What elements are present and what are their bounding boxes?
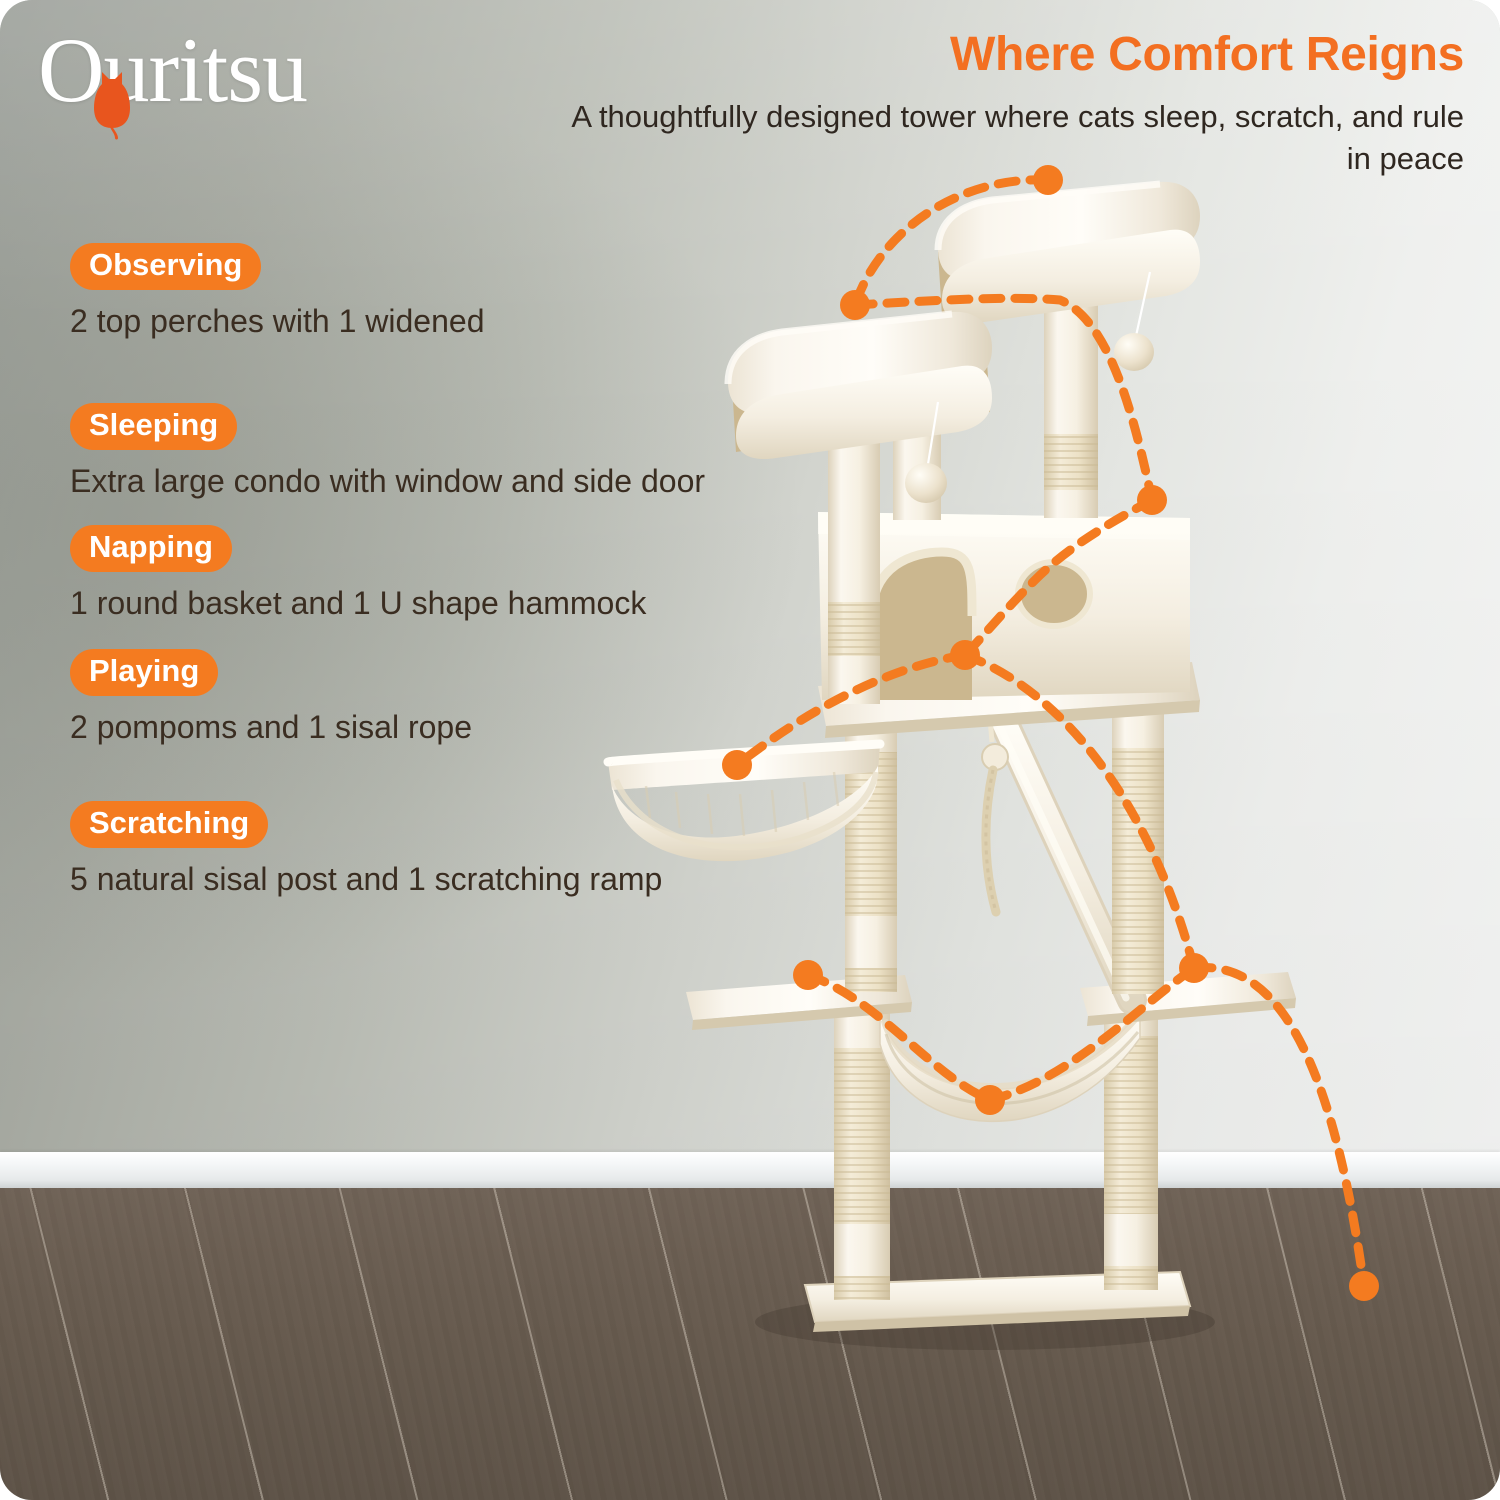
page-title: Where Comfort Reigns <box>544 30 1464 80</box>
feature-desc-sleeping: Extra large condo with window and side d… <box>70 461 720 503</box>
sisal-post-mid-right <box>1112 714 1164 994</box>
feature-desc-napping: 1 round basket and 1 U shape hammock <box>70 583 720 625</box>
brand-logo[interactable]: Ouritsu <box>38 24 307 116</box>
page-subtitle: A thoughtfully designed tower where cats… <box>564 96 1464 179</box>
feature-item-scratching: Scratching 5 natural sisal post and 1 sc… <box>70 801 750 901</box>
feature-desc-observing: 2 top perches with 1 widened <box>70 301 720 343</box>
top-perch-wide <box>728 312 992 459</box>
feature-badge-observing: Observing <box>70 243 261 290</box>
sisal-post-lower-left <box>834 1010 890 1300</box>
feature-badge-playing: Playing <box>70 649 218 696</box>
feature-item-observing: Observing 2 top perches with 1 widened <box>70 243 750 343</box>
feature-badge-napping: Napping <box>70 525 232 572</box>
feature-item-playing: Playing 2 pompoms and 1 sisal rope <box>70 649 750 749</box>
cat-silhouette-icon <box>88 68 136 140</box>
product-infographic: Ouritsu Where Comfort Reigns A thoughtfu… <box>0 0 1500 1500</box>
feature-list: Observing 2 top perches with 1 widened S… <box>70 243 750 931</box>
feature-desc-scratching: 5 natural sisal post and 1 scratching ra… <box>70 859 720 901</box>
feature-badge-scratching: Scratching <box>70 801 268 848</box>
feature-item-sleeping: Sleeping Extra large condo with window a… <box>70 403 750 503</box>
feature-desc-playing: 2 pompoms and 1 sisal rope <box>70 707 720 749</box>
logo-wordmark: Ouritsu <box>38 24 307 116</box>
feature-item-napping: Napping 1 round basket and 1 U shape ham… <box>70 525 750 625</box>
top-perch-upper <box>938 182 1200 323</box>
sisal-rope <box>982 718 1008 912</box>
scratching-ramp <box>998 718 1132 1000</box>
feature-badge-sleeping: Sleeping <box>70 403 237 450</box>
u-hammock <box>880 1010 1140 1121</box>
